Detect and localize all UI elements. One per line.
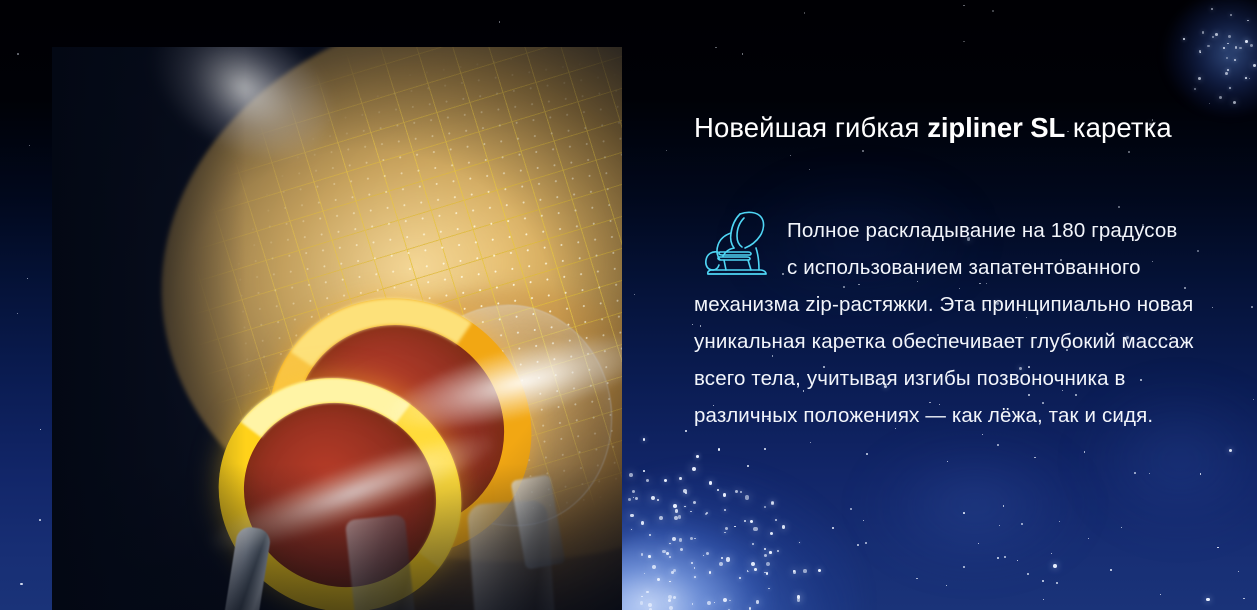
slide-root: Новейшая гибкая zipliner SL каретка bbox=[0, 0, 1257, 610]
body-paragraph: Полное раскладывание на 180 градусов с и… bbox=[694, 212, 1222, 434]
body-line-4: уникальная каретка обеспечивает глубокий… bbox=[694, 323, 1222, 360]
body-line-6: различных положениях — как лёжа, так и с… bbox=[694, 397, 1222, 434]
body-line-3: механизма zip-растяжки. Эта принципиальн… bbox=[694, 286, 1222, 323]
title-part-before: Новейшая гибкая bbox=[694, 112, 927, 143]
page-title: Новейшая гибкая zipliner SL каретка bbox=[694, 111, 1224, 145]
title-product-name: zipliner SL bbox=[927, 112, 1065, 143]
body-line-5: всего тела, учитывая изгибы позвоночника… bbox=[694, 360, 1222, 397]
text-panel: Новейшая гибкая zipliner SL каретка bbox=[694, 0, 1224, 610]
body-line-2: с использованием запатентованного bbox=[694, 249, 1222, 286]
body-line-1: Полное раскладывание на 180 градусов bbox=[694, 212, 1222, 249]
title-part-after: каретка bbox=[1065, 112, 1172, 143]
product-photo bbox=[52, 47, 622, 610]
photo-vignette bbox=[52, 47, 622, 610]
